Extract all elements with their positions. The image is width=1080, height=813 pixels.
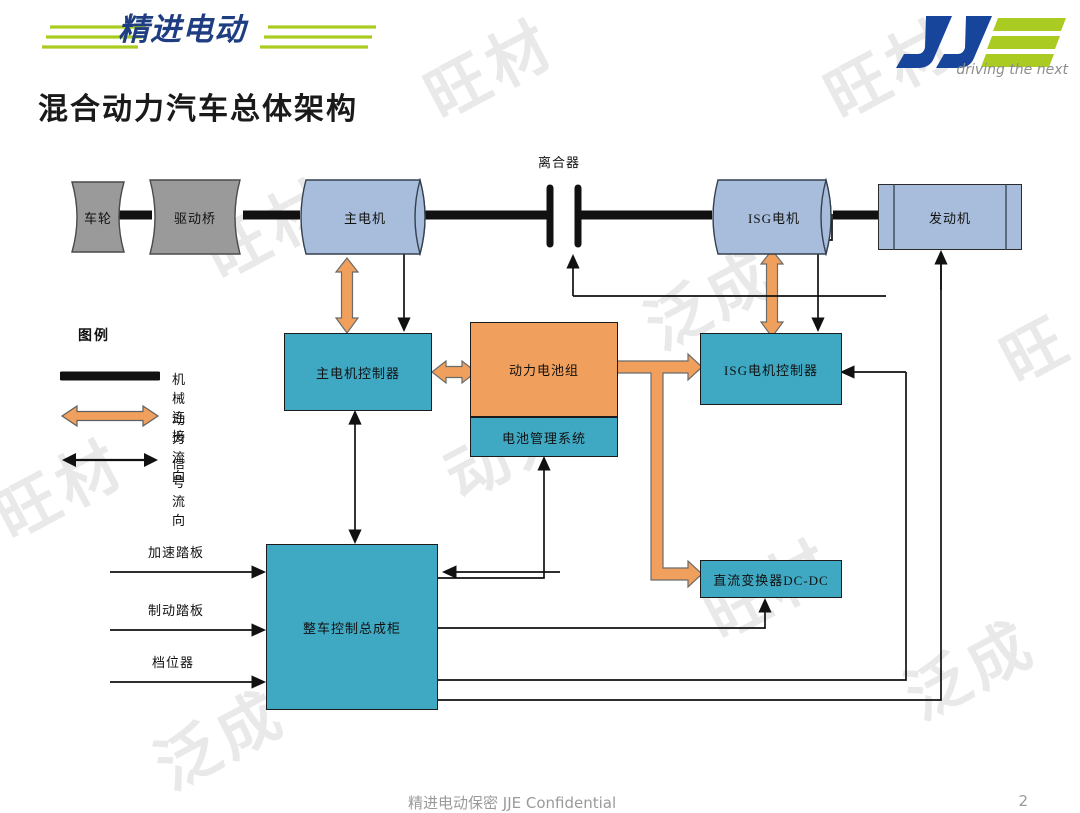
jje-tagline: driving the next (956, 62, 1068, 78)
legend-title: 图例 (78, 325, 110, 345)
node-vehicle-controller: 整车控制总成柜 (266, 544, 438, 710)
node-wheel-label: 车轮 (62, 208, 134, 227)
node-isg-motor-controller: ISG电机控制器 (700, 333, 842, 405)
legend: 图例 机械连接 动力流向 信号流向 (60, 325, 110, 481)
node-isg-motor-controller-label: ISG电机控制器 (724, 360, 818, 379)
power-arrow-main-motor (336, 258, 358, 333)
power-flow-icon (60, 403, 160, 429)
node-battery-management: 电池管理系统 (470, 417, 618, 457)
page-title: 混合动力汽车总体架构 (38, 84, 358, 128)
page-number: 2 (1018, 792, 1028, 810)
signal-dcdc-vehicle (437, 600, 765, 628)
input-label-brake-pedal: 制动踏板 (148, 600, 204, 619)
node-isg-motor: ISG电机 (704, 178, 844, 256)
legend-item-signal: 信号流向 (60, 447, 110, 481)
node-main-motor-label: 主电机 (292, 208, 438, 227)
node-vehicle-controller-label: 整车控制总成柜 (303, 618, 401, 637)
node-drive-axle-label: 驱动桥 (140, 208, 250, 227)
legend-label-signal: 信号流向 (172, 453, 186, 529)
node-battery-pack-label: 动力电池组 (509, 360, 579, 379)
node-main-motor-controller: 主电机控制器 (284, 333, 432, 411)
node-drive-axle: 驱动桥 (140, 178, 250, 256)
input-label-gear-selector: 档位器 (152, 652, 194, 671)
node-battery-management-label: 电池管理系统 (502, 428, 586, 447)
mechanical-link-icon (60, 367, 160, 385)
power-arrow-battery-isg-dcdc (617, 354, 702, 587)
legend-item-power: 动力流向 (60, 403, 110, 437)
node-main-motor: 主电机 (292, 178, 438, 256)
node-isg-motor-label: ISG电机 (704, 208, 844, 227)
node-clutch-label: 离合器 (538, 152, 580, 171)
company-logo-text: 精进电动 (118, 4, 246, 49)
clutch-plates (550, 188, 578, 244)
input-label-accelerator-pedal: 加速踏板 (148, 542, 204, 561)
signal-bms-vehicle (437, 458, 544, 578)
signal-flow-icon (60, 451, 160, 469)
node-dcdc-converter-label: 直流变换器DC-DC (713, 570, 828, 589)
legend-item-mechanical: 机械连接 (60, 363, 110, 397)
node-wheel: 车轮 (62, 180, 134, 254)
node-battery-pack: 动力电池组 (470, 322, 618, 417)
engine-detail-lines (878, 184, 1022, 250)
power-arrow-isg-motor (761, 250, 783, 337)
node-dcdc-converter: 直流变换器DC-DC (700, 560, 842, 598)
node-main-motor-controller-label: 主电机控制器 (316, 363, 400, 382)
